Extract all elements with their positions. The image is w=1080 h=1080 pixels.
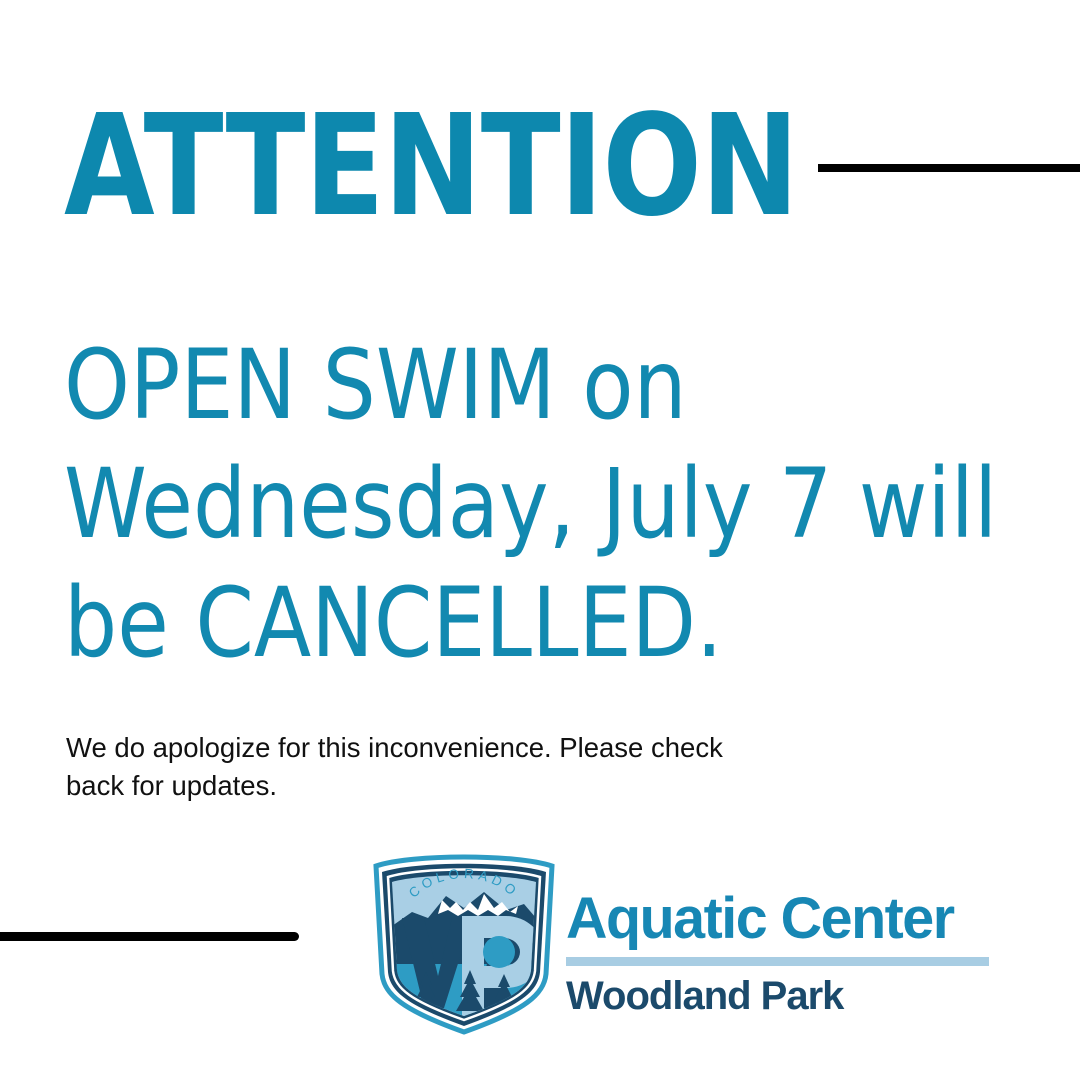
logo-secondary-name: Woodland Park (566, 975, 996, 1017)
shield-badge-icon: COLORADO (366, 852, 562, 1038)
message-line: OPEN SWIM on (64, 326, 976, 445)
message-line: be CANCELLED. (64, 564, 976, 683)
apology-line: We do apologize for this inconvenience. … (66, 729, 886, 767)
header-divider-rule (818, 164, 1080, 172)
apology-line: back for updates. (66, 767, 886, 805)
message-line: Wednesday, July 7 will (64, 445, 976, 564)
page-title: ATTENTION (64, 106, 798, 228)
announcement-message: OPEN SWIM on Wednesday, July 7 will be C… (64, 326, 976, 683)
apology-text: We do apologize for this inconvenience. … (66, 729, 886, 805)
logo-divider-bar (566, 957, 989, 966)
logo-primary-name: Aquatic Center (566, 890, 992, 948)
attention-header: ATTENTION (0, 106, 1080, 228)
flyer-canvas: ATTENTION OPEN SWIM on Wednesday, July 7… (0, 0, 1080, 1080)
organization-logo: COLORADO Aquatic Center Woodland Park (366, 852, 1006, 1042)
footer-divider-rule (0, 932, 299, 941)
logo-wordmark: Aquatic Center Woodland Park (566, 890, 996, 1010)
